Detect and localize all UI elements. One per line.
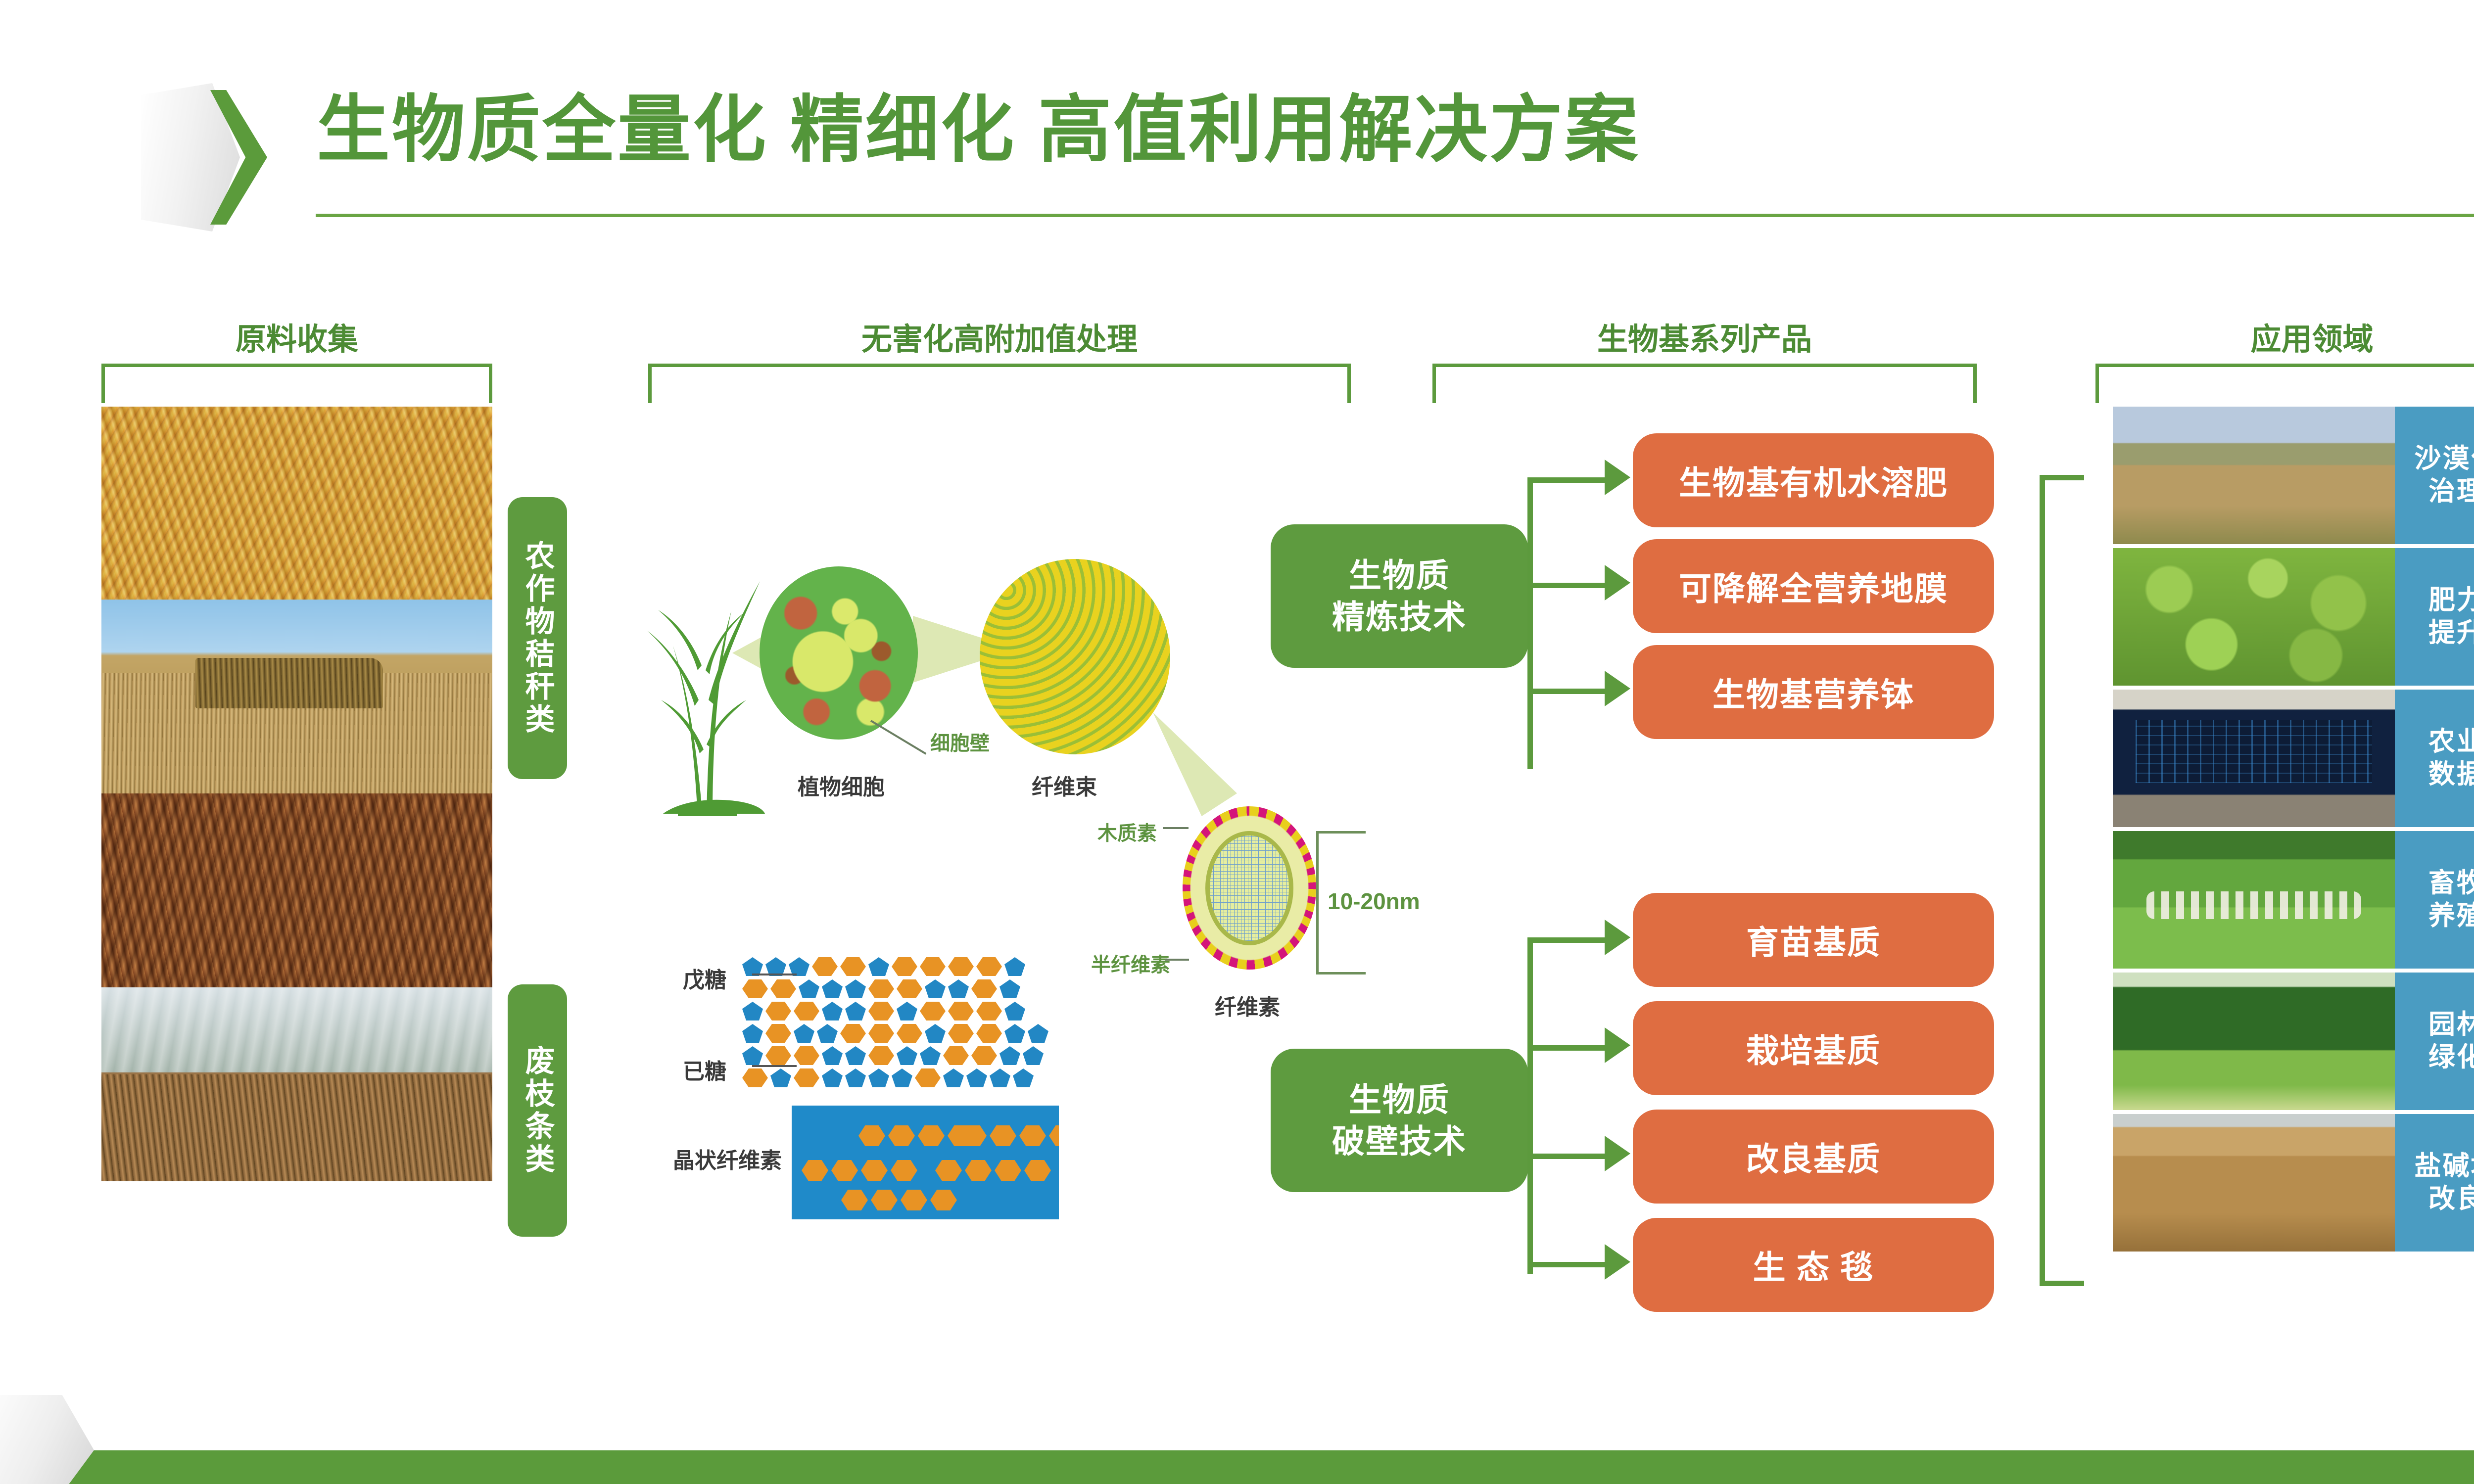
hexose-label: 已糖 [683,1054,726,1085]
cell-wall-leader-line [870,720,926,754]
flow-arrow-5 [1605,1027,1630,1063]
tag-line1: 肥力 [2428,585,2474,615]
title-underline [316,214,2474,217]
infographic-slide: 生物质全量化 精细化 高值利用解决方案 原料收集 无害化高附加值处理 生物基系列… [0,0,2474,1484]
lignin-label: 木质素 [1097,817,1157,846]
desert-control-photo [2113,407,2395,544]
pruned-branches-photo [101,793,492,987]
section-bracket [648,364,1351,403]
fiber-bundle-label: 纤维束 [1032,769,1097,801]
hexose-leader-line [752,1065,797,1067]
tech-box-cell-wall-breaking[interactable]: 生物质 破壁技术 [1271,1049,1528,1192]
cellulose-label: 纤维素 [1215,989,1280,1021]
section-label: 原料收集 [101,314,492,359]
page-title: 生物质全量化 精细化 高值利用解决方案 [317,92,1640,168]
fiber-bundle-illustration [980,559,1170,754]
hexagon-chevron-icon [141,83,262,232]
straw-bale-field-photo [101,600,492,793]
cellulose-core [1205,831,1293,945]
product-box-cultivation-substrate[interactable]: 栽培基质 [1633,1001,1994,1095]
application-tag-fertility: 肥力 提升 [2395,548,2474,686]
flow-arrow-4 [1605,920,1630,955]
dimension-label: 10-20nm [1328,888,1420,915]
flow-arrow-2 [1605,565,1630,601]
cell-wall-label: 细胞壁 [930,727,990,756]
tech-label-line2: 破壁技术 [1332,1120,1467,1162]
tech-label-line1: 生物质 [1349,1079,1450,1120]
product-box-ecological-blanket[interactable]: 生 态 毯 [1633,1218,1994,1312]
product-box-biodegradable-mulch-film[interactable]: 可降解全营养地膜 [1633,539,1994,633]
application-bracket [2040,475,2084,1286]
pentose-leader-line [752,974,797,975]
application-row-desert[interactable]: 沙漠化 治理 [2113,407,2474,544]
product-box-seedling-substrate[interactable]: 育苗基质 [1633,893,1994,987]
flow-bracket-refining [1527,477,1533,769]
tag-line2: 治理 [2428,476,2474,506]
grass-plant-icon [643,552,772,816]
flow-stem-6 [1527,1154,1607,1159]
section-label: 应用领域 [2095,314,2474,359]
flow-stem-1 [1527,477,1607,483]
section-label: 无害化高附加值处理 [648,314,1351,359]
hemicellulose-leader-line [1165,959,1189,961]
data-center-photo [2113,690,2395,827]
plant-cell-label: 植物细胞 [798,769,885,801]
application-row-greening[interactable]: 园林 绿化 [2113,973,2474,1110]
crystalline-cellulose-illustration [792,1106,1059,1219]
plant-cell-illustration [760,566,918,740]
product-box-improvement-substrate[interactable]: 改良基质 [1633,1110,1994,1204]
tag-line1: 盐碱地 [2415,1151,2474,1181]
bottom-green-bar [0,1450,2474,1484]
category-pill-crop-straw: 农作物秸秆类 [508,497,567,779]
application-tag-agri-data: 农业 数据 [2395,690,2474,827]
pentose-label: 戊糖 [683,962,726,994]
grazing-sheep-photo [2113,831,2395,969]
tech-label-line1: 生物质 [1349,555,1450,596]
section-bracket [1432,364,1977,403]
product-box-nutrition-pot[interactable]: 生物基营养钵 [1633,645,1994,739]
tag-line1: 畜牧 [2428,868,2474,898]
cellulose-cross-section-illustration [1183,806,1316,970]
dimension-bar [1316,831,1319,974]
tag-line1: 沙漠化 [2415,444,2474,473]
flow-stem-7 [1527,1262,1607,1267]
flow-stem-4 [1527,937,1607,943]
product-box-water-soluble-fertilizer[interactable]: 生物基有机水溶肥 [1633,433,1994,527]
dimension-tick-bottom [1316,972,1366,974]
flow-stem-3 [1527,689,1607,694]
saline-land-photo [2113,1114,2395,1252]
tag-line2: 绿化 [2428,1042,2474,1072]
lignin-leader-line [1163,827,1189,829]
tag-line2: 养殖 [2428,901,2474,930]
category-pill-waste-branch: 废枝条类 [508,984,567,1237]
flow-stem-5 [1527,1045,1607,1051]
application-tag-greening: 园林 绿化 [2395,973,2474,1110]
application-row-fertility[interactable]: 肥力 提升 [2113,548,2474,686]
sugar-chain-illustration [742,957,1049,1101]
flow-arrow-3 [1605,671,1630,706]
flow-arrow-6 [1605,1136,1630,1171]
magnify-cone-3 [1153,712,1237,816]
section-bracket [101,364,492,403]
flow-arrow-7 [1605,1244,1630,1280]
tag-line1: 农业 [2428,727,2474,756]
crystalline-cellulose-label: 晶状纤维素 [673,1143,782,1174]
orchard-pruning-photo [101,987,492,1181]
application-tag-livestock: 畜牧 养殖 [2395,831,2474,969]
section-bracket [2095,364,2474,403]
dimension-tick-top [1316,831,1366,834]
application-row-saline[interactable]: 盐碱地 改良 [2113,1114,2474,1252]
corn-straw-photo [101,407,492,600]
tag-line2: 提升 [2428,618,2474,648]
tech-box-refining[interactable]: 生物质 精炼技术 [1271,524,1528,668]
flow-bracket-breaking [1527,937,1533,1274]
cabbage-field-photo [2113,548,2395,686]
park-greening-photo [2113,973,2395,1110]
application-row-agri-data[interactable]: 农业 数据 [2113,690,2474,827]
raw-material-photo-column [101,407,492,1181]
tech-label-line2: 精炼技术 [1332,596,1467,638]
application-tag-saline: 盐碱地 改良 [2395,1114,2474,1252]
flow-stem-2 [1527,583,1607,588]
tag-line1: 园林 [2428,1010,2474,1039]
application-row-livestock[interactable]: 畜牧 养殖 [2113,831,2474,969]
tag-line2: 数据 [2428,759,2474,789]
tag-line2: 改良 [2428,1184,2474,1213]
hemicellulose-label: 半纤维素 [1091,949,1170,977]
application-tag-desert: 沙漠化 治理 [2395,407,2474,544]
section-label: 生物基系列产品 [1432,314,1977,359]
flow-arrow-1 [1605,460,1630,495]
